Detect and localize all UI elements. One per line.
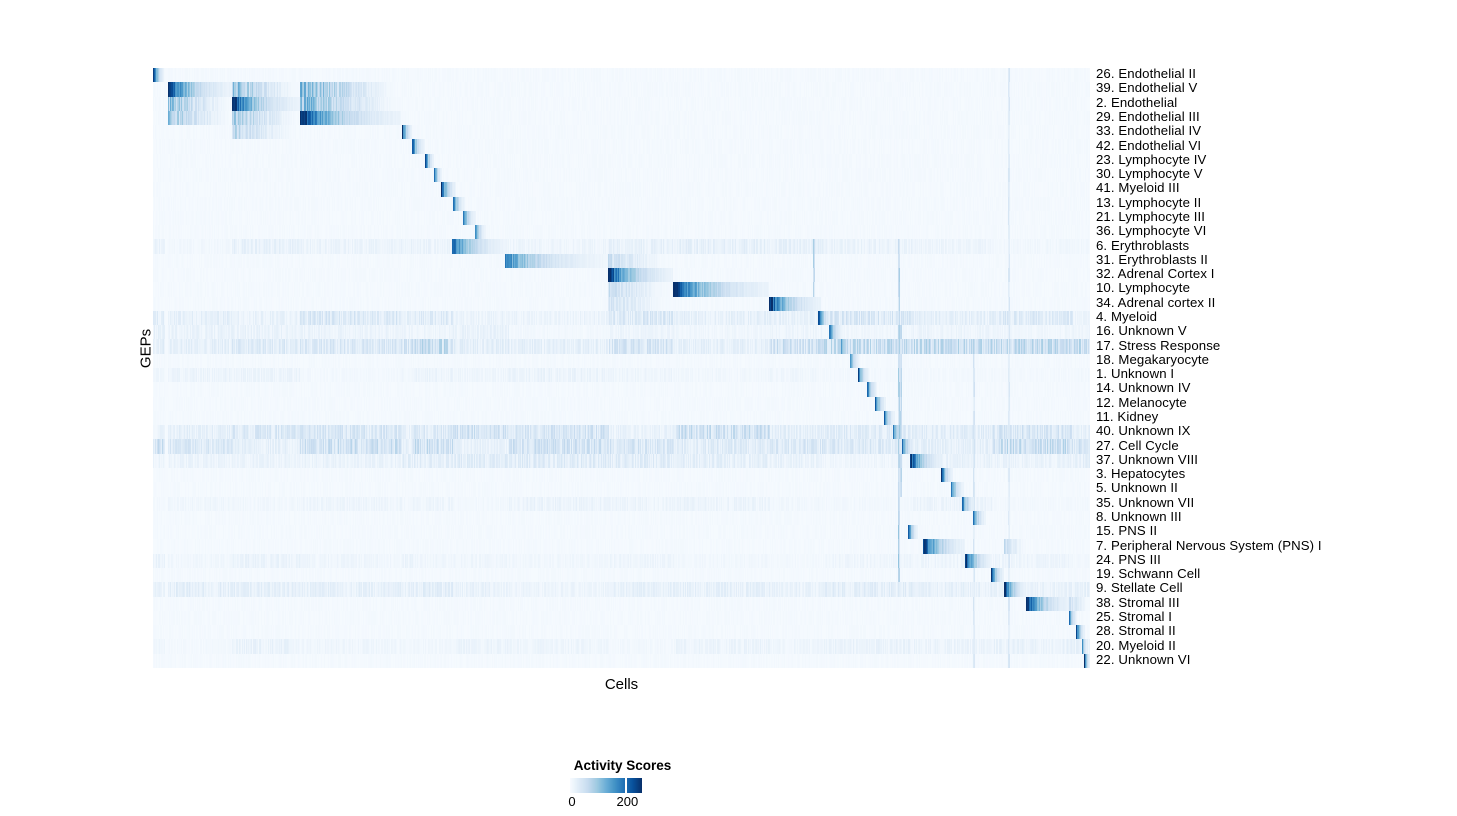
row-label: 12. Melanocyte <box>1096 396 1187 410</box>
row-label: 20. Myeloid II <box>1096 639 1176 653</box>
row-label: 1. Unknown I <box>1096 367 1174 381</box>
row-label: 36. Lymphocyte VI <box>1096 224 1206 238</box>
row-label: 11. Kidney <box>1096 410 1158 424</box>
colorbar-title: Activity Scores <box>500 758 745 773</box>
row-label: 25. Stromal I <box>1096 610 1172 624</box>
row-label: 2. Endothelial <box>1096 96 1177 110</box>
row-label: 24. PNS III <box>1096 553 1161 567</box>
row-label: 42. Endothelial VI <box>1096 139 1201 153</box>
colorbar-tick <box>625 778 627 793</box>
colorbar-legend: Activity Scores 0200 <box>500 758 800 816</box>
row-label: 16. Unknown V <box>1096 324 1187 338</box>
row-label: 26. Endothelial II <box>1096 67 1196 81</box>
row-label: 33. Endothelial IV <box>1096 124 1201 138</box>
row-label: 6. Erythroblasts <box>1096 239 1189 253</box>
row-label: 5. Unknown II <box>1096 481 1178 495</box>
row-label: 10. Lymphocyte <box>1096 281 1190 295</box>
row-label: 17. Stress Response <box>1096 339 1220 353</box>
row-label: 28. Stromal II <box>1096 624 1176 638</box>
colorbar-gradient <box>570 778 642 793</box>
heatmap-figure: GEPs Cells 26. Endothelial II39. Endothe… <box>0 0 1457 815</box>
row-label: 38. Stromal III <box>1096 596 1180 610</box>
row-label: 30. Lymphocyte V <box>1096 167 1203 181</box>
heatmap-plot-area[interactable] <box>153 68 1090 668</box>
row-label: 3. Hepatocytes <box>1096 467 1185 481</box>
row-label: 39. Endothelial V <box>1096 81 1197 95</box>
row-label: 41. Myeloid III <box>1096 181 1180 195</box>
row-label: 32. Adrenal Cortex I <box>1096 267 1215 281</box>
row-label: 19. Schwann Cell <box>1096 567 1200 581</box>
row-label: 7. Peripheral Nervous System (PNS) I <box>1096 539 1322 553</box>
row-label-list: 26. Endothelial II39. Endothelial V2. En… <box>1096 68 1446 668</box>
colorbar-tick-label: 200 <box>617 794 639 809</box>
row-label: 15. PNS II <box>1096 524 1157 538</box>
row-label: 31. Erythroblasts II <box>1096 253 1208 267</box>
row-label: 13. Lymphocyte II <box>1096 196 1201 210</box>
y-axis-label: GEPs <box>138 319 155 379</box>
row-label: 35. Unknown VII <box>1096 496 1194 510</box>
colorbar-bar-wrap <box>570 778 642 793</box>
row-label: 4. Myeloid <box>1096 310 1157 324</box>
x-axis-label: Cells <box>153 676 1090 693</box>
row-label: 29. Endothelial III <box>1096 110 1200 124</box>
row-label: 9. Stellate Cell <box>1096 581 1183 595</box>
row-label: 21. Lymphocyte III <box>1096 210 1205 224</box>
row-label: 27. Cell Cycle <box>1096 439 1179 453</box>
row-label: 23. Lymphocyte IV <box>1096 153 1206 167</box>
row-label: 8. Unknown III <box>1096 510 1182 524</box>
row-label: 37. Unknown VIII <box>1096 453 1198 467</box>
row-label: 22. Unknown VI <box>1096 653 1191 667</box>
row-label: 18. Megakaryocyte <box>1096 353 1209 367</box>
row-label: 34. Adrenal cortex II <box>1096 296 1215 310</box>
heatmap-canvas[interactable] <box>153 68 1090 668</box>
row-label: 14. Unknown IV <box>1096 381 1191 395</box>
colorbar-tick-label: 0 <box>568 794 575 809</box>
row-label: 40. Unknown IX <box>1096 424 1191 438</box>
